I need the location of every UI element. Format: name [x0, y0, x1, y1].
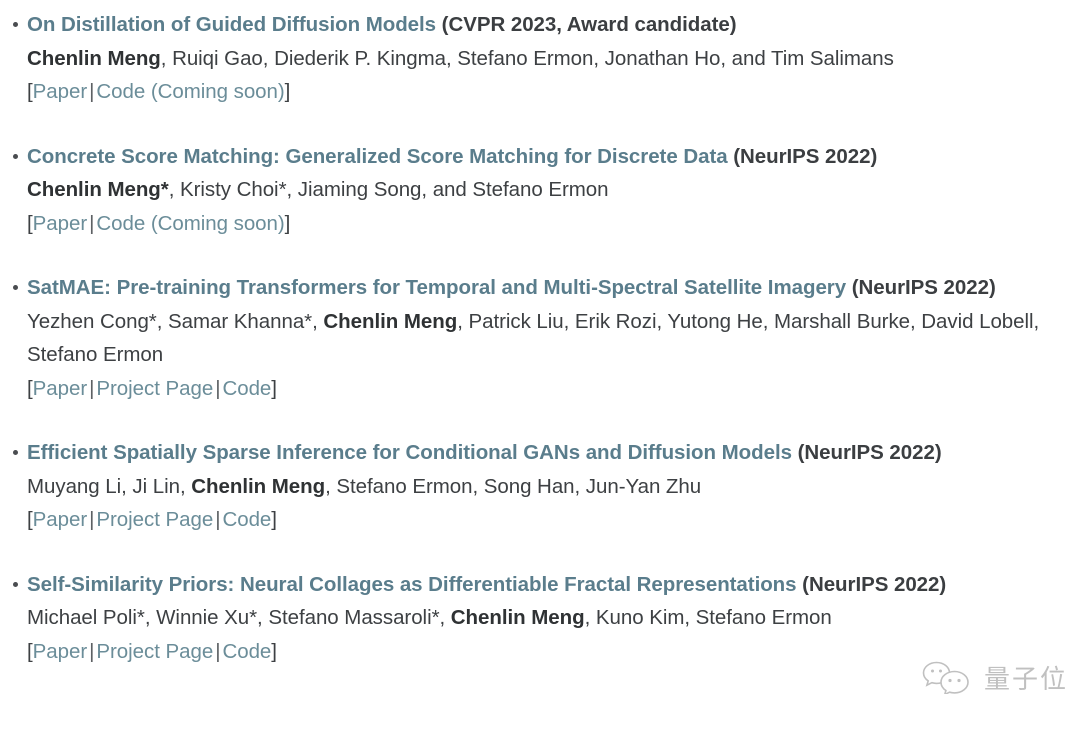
publication-link-code[interactable]: Code [222, 377, 271, 400]
publication-item: On Distillation of Guided Diffusion Mode… [0, 0, 1080, 109]
publication-link-code-coming-soon[interactable]: Code (Coming soon) [96, 212, 284, 235]
author-highlight: Chenlin Meng [451, 606, 585, 629]
bullet-icon [13, 285, 18, 290]
publication-link-project-page[interactable]: Project Page [96, 377, 213, 400]
publication-link-code-coming-soon[interactable]: Code (Coming soon) [96, 80, 284, 103]
bullet-icon [13, 22, 18, 27]
publication-link-paper[interactable]: Paper [33, 640, 87, 663]
authors-suffix: , Ruiqi Gao, Diederik P. Kingma, Stefano… [161, 47, 894, 70]
authors-prefix: Yezhen Cong*, Samar Khanna*, [27, 310, 323, 333]
publication-venue: (NeurIPS 2022) [846, 276, 996, 299]
publication-authors: Chenlin Meng*, Kristy Choi*, Jiaming Son… [27, 173, 1080, 207]
bracket-close: ] [271, 508, 277, 531]
bullet-icon [13, 450, 18, 455]
publication-link-code[interactable]: Code [222, 508, 271, 531]
publication-link-paper[interactable]: Paper [33, 377, 87, 400]
publication-item: Concrete Score Matching: Generalized Sco… [0, 140, 1080, 241]
publication-links: [Paper|Project Page|Code] [27, 372, 1080, 406]
publication-title-link[interactable]: Efficient Spatially Sparse Inference for… [27, 441, 792, 464]
authors-suffix: , Kristy Choi*, Jiaming Song, and Stefan… [169, 178, 609, 201]
watermark-text: 量子位 [984, 667, 1068, 693]
publication-title-link[interactable]: Self-Similarity Priors: Neural Collages … [27, 573, 797, 596]
publication-title-line: Self-Similarity Priors: Neural Collages … [27, 568, 1080, 602]
publication-link-paper[interactable]: Paper [33, 80, 87, 103]
publication-link-code[interactable]: Code [222, 640, 271, 663]
publication-title-line: Concrete Score Matching: Generalized Sco… [27, 140, 1080, 174]
link-separator: | [87, 508, 96, 531]
bracket-close: ] [271, 377, 277, 400]
publication-authors: Yezhen Cong*, Samar Khanna*, Chenlin Men… [27, 305, 1080, 372]
bracket-close: ] [285, 80, 291, 103]
author-highlight: Chenlin Meng [323, 310, 457, 333]
authors-prefix: Muyang Li, Ji Lin, [27, 475, 191, 498]
publication-item: SatMAE: Pre-training Transformers for Te… [0, 271, 1080, 405]
publication-title-line: Efficient Spatially Sparse Inference for… [27, 436, 1080, 470]
link-separator: | [87, 212, 96, 235]
link-separator: | [87, 640, 96, 663]
bullet-icon [13, 582, 18, 587]
publication-link-paper[interactable]: Paper [33, 508, 87, 531]
authors-suffix: , Stefano Ermon, Song Han, Jun-Yan Zhu [325, 475, 701, 498]
publication-links: [Paper|Code (Coming soon)] [27, 75, 1080, 109]
publication-title-link[interactable]: On Distillation of Guided Diffusion Mode… [27, 13, 436, 36]
publication-link-project-page[interactable]: Project Page [96, 640, 213, 663]
publication-links: [Paper|Project Page|Code] [27, 503, 1080, 537]
publication-title-link[interactable]: Concrete Score Matching: Generalized Sco… [27, 145, 728, 168]
bullet-icon [13, 154, 18, 159]
publication-authors: Michael Poli*, Winnie Xu*, Stefano Massa… [27, 601, 1080, 635]
publication-item: Efficient Spatially Sparse Inference for… [0, 436, 1080, 537]
author-highlight: Chenlin Meng* [27, 178, 169, 201]
authors-suffix: , Kuno Kim, Stefano Ermon [585, 606, 832, 629]
author-highlight: Chenlin Meng [191, 475, 325, 498]
publication-links: [Paper|Code (Coming soon)] [27, 207, 1080, 241]
publication-venue: (CVPR 2023, Award candidate) [436, 13, 736, 36]
link-separator: | [87, 80, 96, 103]
publication-title-line: On Distillation of Guided Diffusion Mode… [27, 8, 1080, 42]
publication-list: On Distillation of Guided Diffusion Mode… [0, 0, 1080, 668]
publication-title-link[interactable]: SatMAE: Pre-training Transformers for Te… [27, 276, 846, 299]
authors-prefix: Michael Poli*, Winnie Xu*, Stefano Massa… [27, 606, 451, 629]
bracket-close: ] [271, 640, 277, 663]
bracket-close: ] [285, 212, 291, 235]
publication-venue: (NeurIPS 2022) [728, 145, 878, 168]
link-separator: | [87, 377, 96, 400]
publication-link-project-page[interactable]: Project Page [96, 508, 213, 531]
publication-venue: (NeurIPS 2022) [792, 441, 942, 464]
author-highlight: Chenlin Meng [27, 47, 161, 70]
publication-links: [Paper|Project Page|Code] [27, 635, 1080, 669]
publication-authors: Muyang Li, Ji Lin, Chenlin Meng, Stefano… [27, 470, 1080, 504]
publication-link-paper[interactable]: Paper [33, 212, 87, 235]
publication-item: Self-Similarity Priors: Neural Collages … [0, 568, 1080, 669]
publication-title-line: SatMAE: Pre-training Transformers for Te… [27, 271, 1080, 305]
publication-venue: (NeurIPS 2022) [797, 573, 947, 596]
publication-authors: Chenlin Meng, Ruiqi Gao, Diederik P. Kin… [27, 42, 1080, 76]
